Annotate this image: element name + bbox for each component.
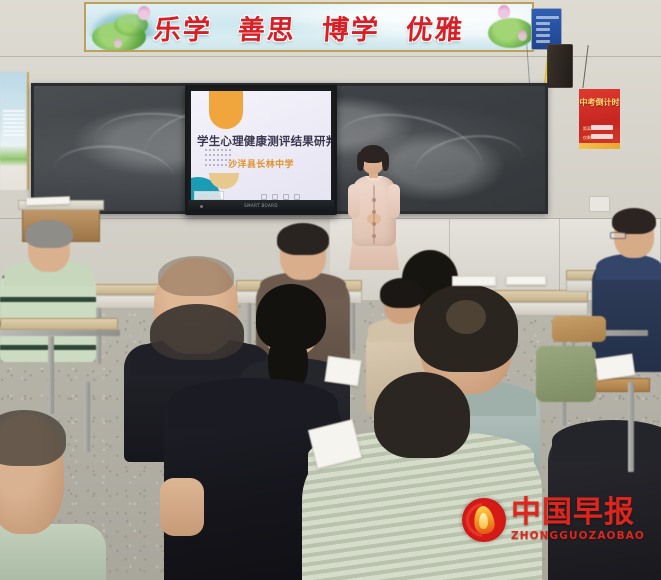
poster-line2-label: 仅剩 bbox=[583, 135, 591, 141]
forearm bbox=[160, 478, 204, 536]
desk-frame bbox=[48, 336, 54, 414]
glasses-icon bbox=[610, 232, 626, 239]
poster-line1-label: 距离 bbox=[583, 126, 591, 132]
presentation-slide: 学生心理健康测评结果研判会 沙洋县长林中学 bbox=[191, 91, 331, 203]
classroom-meeting-photo: 乐学 善思 博学 优雅 bbox=[0, 0, 661, 580]
slide-subtitle: 沙洋县长林中学 bbox=[191, 157, 331, 170]
banner-phrases: 乐学 善思 博学 优雅 bbox=[86, 4, 532, 50]
handout-paper bbox=[452, 276, 496, 286]
wall-outlet bbox=[589, 196, 610, 212]
landscape-poster bbox=[0, 72, 29, 190]
banner-phrase-4: 优雅 bbox=[405, 8, 466, 47]
lectern-paper bbox=[26, 196, 70, 206]
desk-frame bbox=[0, 330, 120, 336]
chair-wood bbox=[552, 316, 606, 342]
desk-frame bbox=[628, 382, 634, 472]
attendee-navy-glasses-right bbox=[596, 212, 661, 372]
banner-phrase-1: 乐学 bbox=[153, 8, 214, 47]
handout-paper bbox=[324, 356, 361, 386]
slide-title: 学生心理健康测评结果研判会 bbox=[197, 133, 331, 149]
desk-surface bbox=[0, 318, 118, 330]
handout-paper bbox=[506, 276, 546, 285]
banner-phrase-3: 博学 bbox=[321, 8, 382, 47]
screen-taskbar[interactable] bbox=[194, 191, 224, 200]
slide-shape-orange bbox=[209, 91, 243, 129]
watermark-chinese: 中国早报 bbox=[511, 498, 645, 528]
watermark-pinyin: ZHONGGUOZAOBAO bbox=[511, 531, 645, 542]
banner-phrase-2: 善思 bbox=[237, 8, 298, 47]
news-watermark: 中国早报 ZHONGGUOZAOBAO bbox=[462, 498, 645, 542]
poster-title: 中考倒计时 bbox=[579, 98, 620, 107]
flame-emblem-icon bbox=[462, 498, 506, 542]
wall-speaker bbox=[547, 44, 573, 88]
exam-countdown-poster: 中考倒计时 距离 仅剩 bbox=[578, 88, 621, 150]
classroom-motto-banner: 乐学 善思 博学 优雅 bbox=[84, 2, 534, 52]
chair-green bbox=[536, 346, 596, 402]
desk-frame bbox=[84, 382, 90, 452]
attendee-striped-polo-left bbox=[0, 222, 110, 362]
attendee-foreground-left-head bbox=[0, 414, 96, 580]
board-brand-label: SMART BOARD bbox=[244, 203, 278, 208]
screen-bezel: SMART BOARD bbox=[188, 200, 334, 212]
power-led-icon bbox=[200, 205, 203, 208]
interactive-smart-board[interactable]: 学生心理健康测评结果研判会 沙洋县长林中学 SMART BOARD bbox=[185, 85, 337, 215]
